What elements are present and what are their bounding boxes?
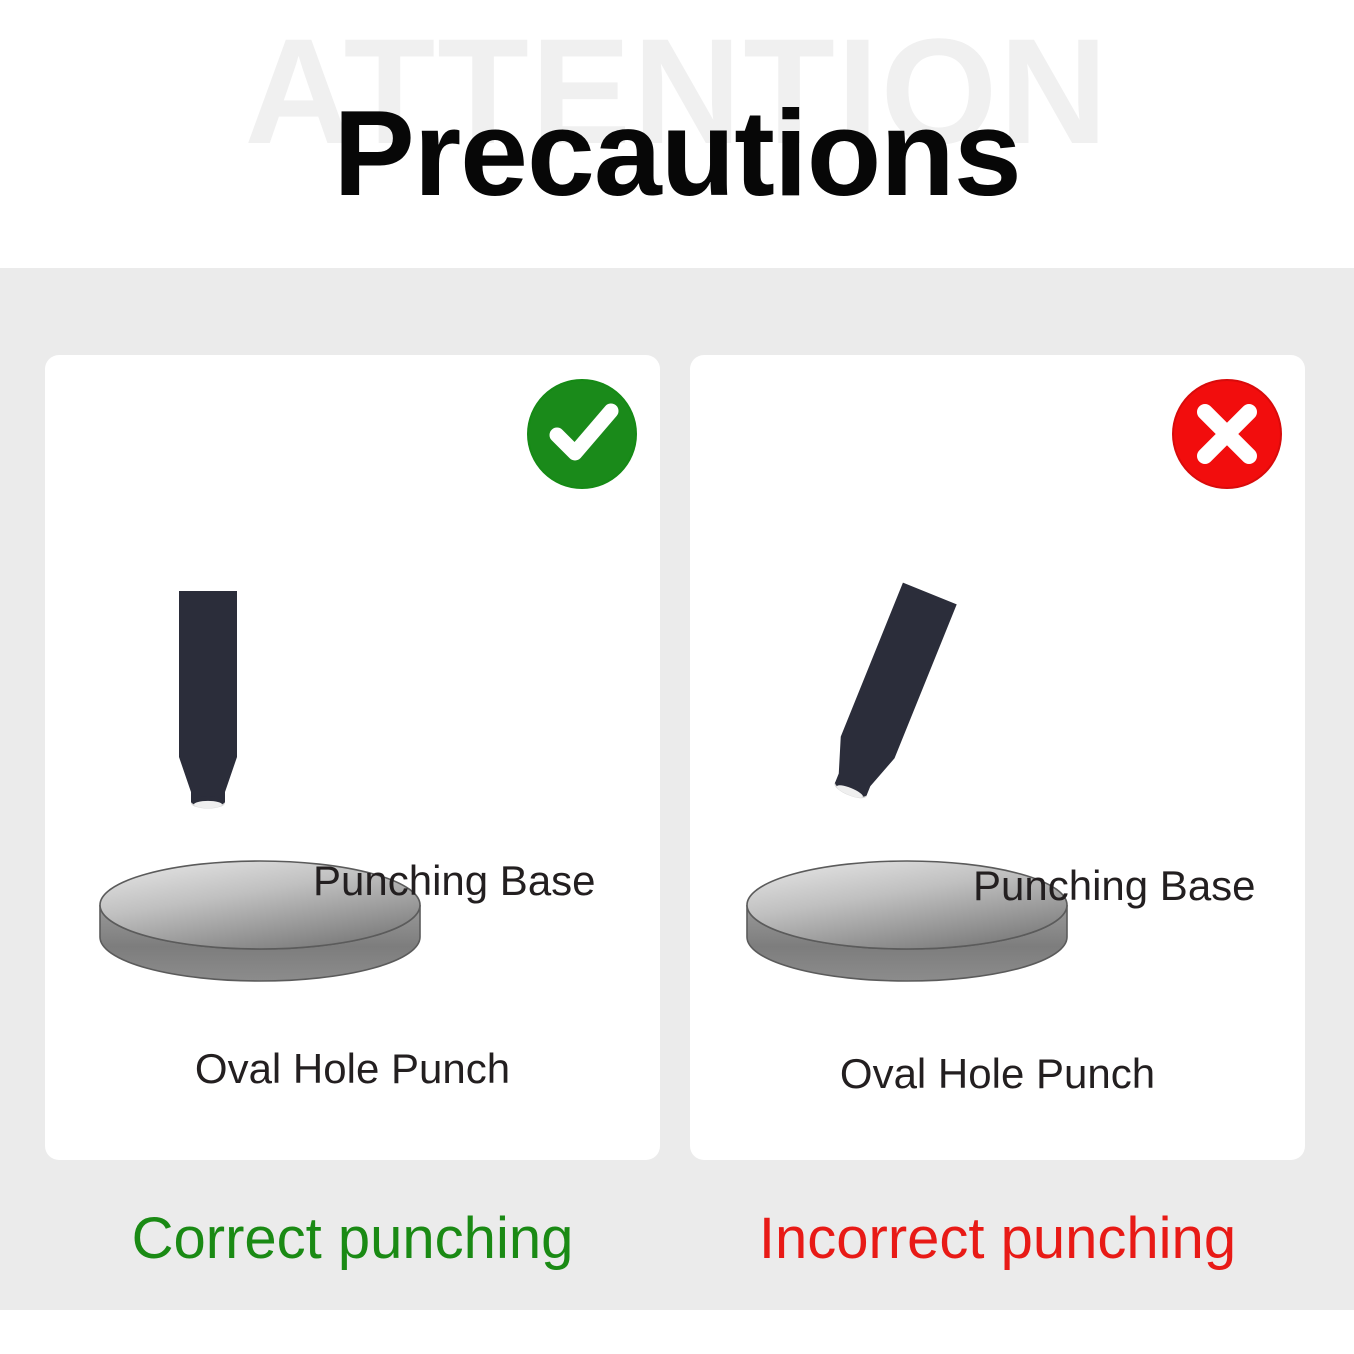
caption-incorrect: Incorrect punching: [690, 1208, 1305, 1270]
oval-hole-punch-label: Oval Hole Punch: [45, 1048, 660, 1090]
punching-base-label: Punching Base: [973, 865, 1256, 907]
card-correct: Punching Base Oval Hole Punch: [45, 355, 660, 1160]
x-circle-icon: [1172, 377, 1287, 492]
oval-hole-punch-disc: [742, 855, 1072, 995]
header-band: ATTENTION Precautions: [0, 0, 1354, 268]
punching-base-tool-tilted: [798, 577, 978, 832]
card-incorrect: Punching Base Oval Hole Punch: [690, 355, 1305, 1160]
punching-base-tool-upright: [173, 587, 243, 822]
oval-hole-punch-disc: [95, 855, 425, 995]
oval-hole-punch-label: Oval Hole Punch: [690, 1053, 1305, 1095]
precautions-infographic: ATTENTION Precautions: [0, 0, 1354, 1354]
punching-base-label: Punching Base: [313, 860, 596, 902]
page-title: Precautions: [0, 92, 1354, 214]
caption-correct: Correct punching: [45, 1208, 660, 1270]
check-circle-icon: [527, 377, 642, 492]
content-panel: Punching Base Oval Hole Punch: [0, 268, 1354, 1310]
